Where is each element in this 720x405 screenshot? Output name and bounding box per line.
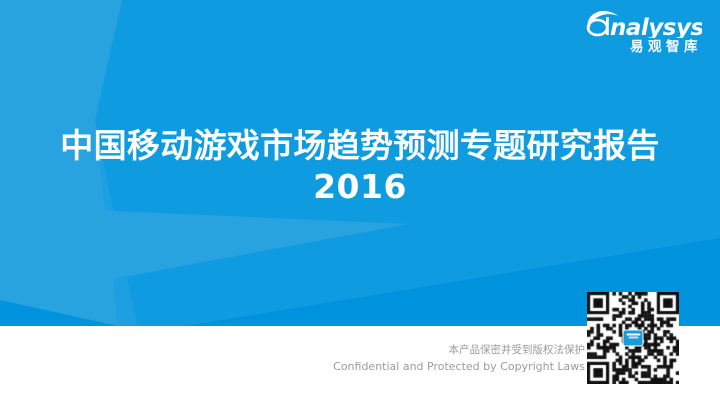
analysys-wordmark-icon: nalysys xyxy=(584,8,702,38)
brand-logo: nalysys 易观智库 xyxy=(577,8,702,56)
logo-wordmark: nalysys xyxy=(577,8,702,38)
qr-center-logo-badge xyxy=(623,330,644,347)
logo-chinese-name: 易观智库 xyxy=(577,39,702,56)
qr-code[interactable] xyxy=(587,292,679,384)
page-title: 中国移动游戏市场趋势预测专题研究报告 2016 xyxy=(0,126,720,207)
confidentiality-english: Confidential and Protected by Copyright … xyxy=(333,358,585,376)
svg-text:nalysys: nalysys xyxy=(610,15,702,38)
qr-badge-line-secondary xyxy=(628,337,638,339)
qr-badge-line-primary xyxy=(626,333,640,335)
title-line-primary: 中国移动游戏市场趋势预测专题研究报告 xyxy=(0,126,720,166)
title-slide: nalysys 易观智库 中国移动游戏市场趋势预测专题研究报告 2016 本产品… xyxy=(0,0,720,405)
title-line-year: 2016 xyxy=(0,166,720,207)
confidentiality-chinese: 本产品保密并受到版权法保护 xyxy=(333,342,585,358)
confidentiality-notice: 本产品保密并受到版权法保护 Confidential and Protected… xyxy=(333,342,585,376)
